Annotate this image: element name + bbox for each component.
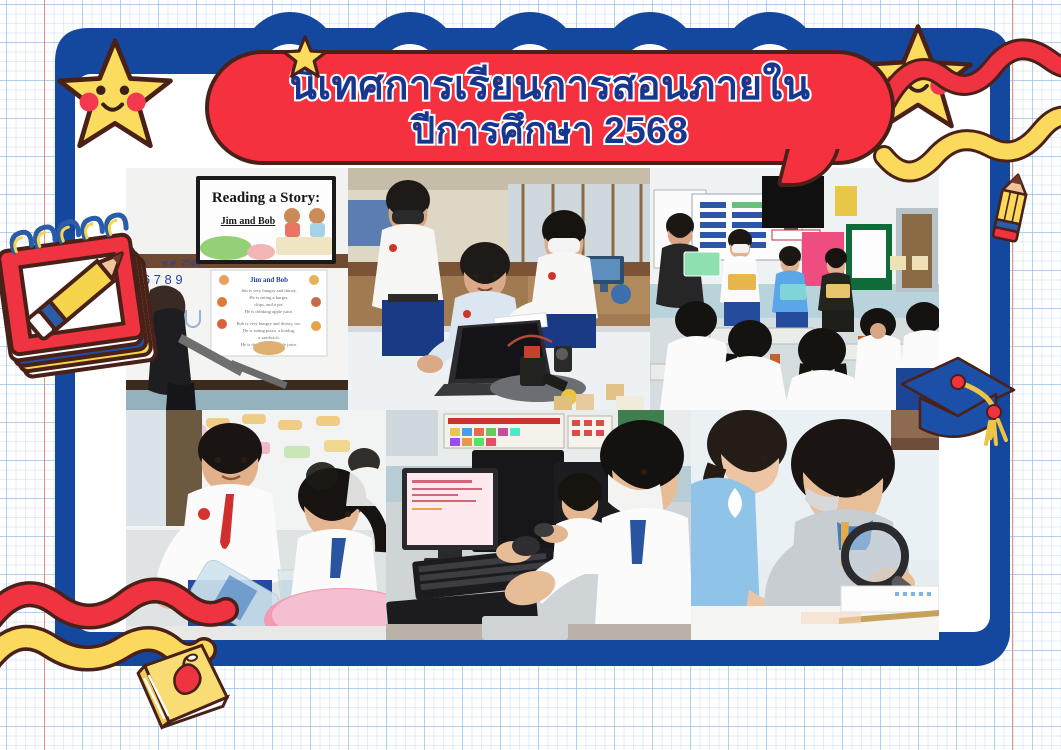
graduation-cap-icon [896,350,1020,462]
svg-text:Jim and Bob: Jim and Bob [221,216,276,227]
notepad-pencil-icon [0,212,178,392]
title-line-1: นิเทศการเรียนการสอนภายใน [290,63,811,109]
svg-text:Jim and Bob: Jim and Bob [250,276,288,284]
collage-row-2 [126,410,939,640]
star-top-left-icon [56,36,174,154]
svg-text:a sandwich.: a sandwich. [258,335,280,340]
svg-text:Jim is very hungry and thirsty: Jim is very hungry and thirsty. [241,288,297,293]
photo-robotics-laptop [348,168,650,410]
star-title-left-icon [282,34,328,80]
photo-collage: เทศ พ.ศ. 2564 5 6 7 8 9 ๕ ๖ ๗ ๘ ๙ Readin… [126,168,939,640]
photo-computer-lab [386,410,691,640]
svg-text:He is drinking apple juice.: He is drinking apple juice. [245,309,294,314]
collage-row-1: เทศ พ.ศ. 2564 5 6 7 8 9 ๕ ๖ ๗ ๘ ๙ Readin… [126,168,939,410]
pencil-top-right-icon [985,172,1037,244]
book-apple-icon [132,640,236,734]
title-line-2: ปีการศึกษา 2568 [412,109,689,153]
svg-text:Reading a Story:: Reading a Story: [212,190,320,206]
poster-canvas: เทศ พ.ศ. 2564 5 6 7 8 9 ๕ ๖ ๗ ๘ ๙ Readin… [0,0,1061,750]
